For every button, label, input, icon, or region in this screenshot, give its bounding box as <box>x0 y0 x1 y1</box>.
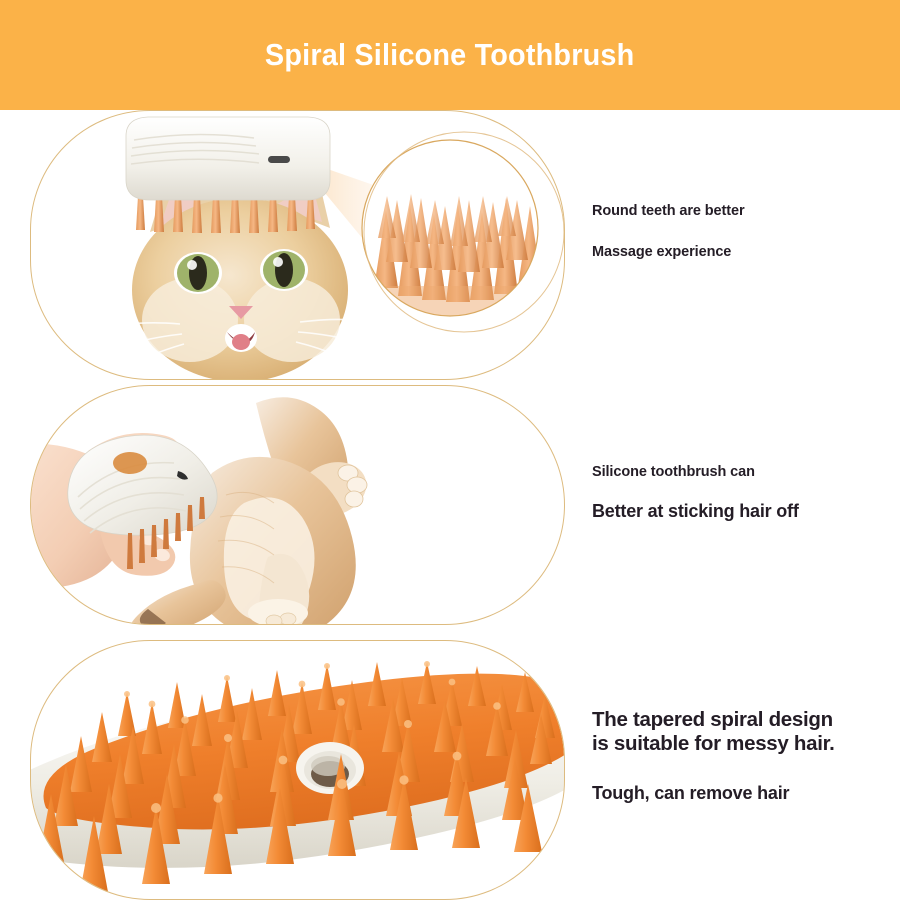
feature-panel-1: Round teeth are better Massage experienc… <box>0 110 900 380</box>
cat-head-with-brush-illustration <box>30 110 565 380</box>
panel-2-line-1: Silicone toothbrush can <box>592 463 892 482</box>
panel-1-copy: Round teeth are better Massage experienc… <box>592 202 892 261</box>
panel-3-copy: The tapered spiral design is suitable fo… <box>592 708 892 805</box>
magnified-bristles <box>360 138 542 320</box>
feature-panel-2: Silicone toothbrush can Better at sticki… <box>0 385 900 625</box>
power-button <box>113 452 147 474</box>
panel-3-line-1: The tapered spiral design <box>592 708 892 732</box>
panel-3-line-2: is suitable for messy hair. <box>592 732 892 756</box>
panel-2-copy: Silicone toothbrush can Better at sticki… <box>592 463 892 523</box>
bristle-head-closeup-illustration <box>30 640 565 900</box>
panel-1-media <box>30 110 565 380</box>
hand-brushing-cat-illustration <box>30 385 565 625</box>
panel-1-line-2: Massage experience <box>592 243 892 262</box>
header-banner: Spiral Silicone Toothbrush <box>0 0 900 110</box>
feature-panel-3: The tapered spiral design is suitable fo… <box>0 640 900 900</box>
steam-nozzle <box>296 742 364 794</box>
magnifier-circle <box>360 132 564 332</box>
page-title: Spiral Silicone Toothbrush <box>265 37 635 73</box>
panel-2-media <box>30 385 565 625</box>
panel-3-media <box>30 640 565 900</box>
panel-1-line-1: Round teeth are better <box>592 202 892 221</box>
usb-port-icon <box>268 156 290 163</box>
hand-holding-brush <box>30 433 217 589</box>
panel-2-line-2: Better at sticking hair off <box>592 500 892 523</box>
panel-3-line-3: Tough, can remove hair <box>592 782 892 805</box>
